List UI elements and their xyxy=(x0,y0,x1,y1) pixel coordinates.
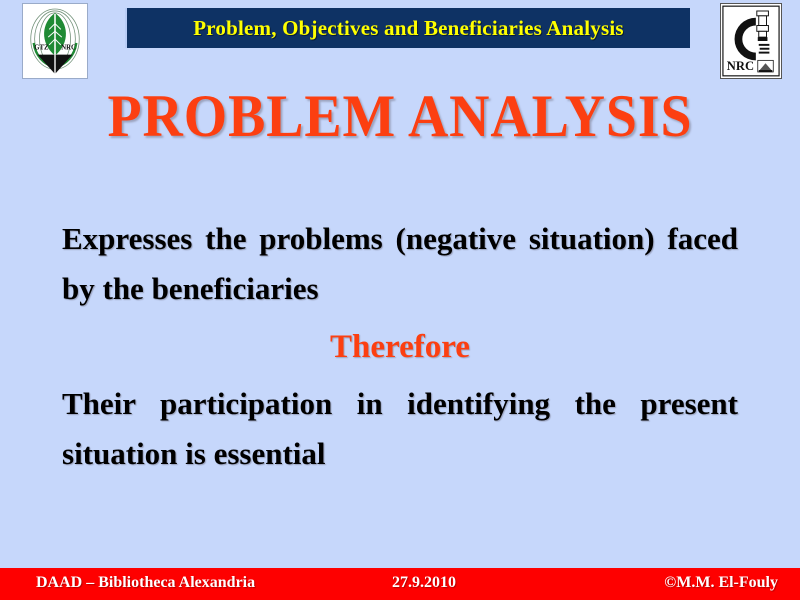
footer-copyright-label: ©M.M. El-Fouly xyxy=(664,574,778,592)
nrc-logo: NRC xyxy=(720,3,782,79)
footer-bar: DAAD – Bibliotheca Alexandria 27.9.2010 … xyxy=(0,568,800,600)
footer-event-label: DAAD – Bibliotheca Alexandria xyxy=(36,574,255,592)
logo-text-gtz: GTZ xyxy=(34,45,49,52)
header-banner: Problem, Objectives and Beneficiaries An… xyxy=(125,8,690,48)
body-connector-therefore: Therefore xyxy=(62,324,738,370)
header-banner-title: Problem, Objectives and Beneficiaries An… xyxy=(193,16,624,41)
footer-date-label: 27.9.2010 xyxy=(392,574,456,592)
slide-body: Expresses the problems (negative situati… xyxy=(62,214,738,479)
presentation-slide: GTZ NRC Problem, Objectives and Benefici… xyxy=(0,0,800,600)
logo-text-nrc-bottom: NRC xyxy=(727,59,754,73)
gtz-nrc-logo: GTZ NRC xyxy=(22,3,88,79)
slide-title: PROBLEM ANALYSIS xyxy=(28,86,772,146)
body-paragraph-2: Their participation in identifying the p… xyxy=(62,379,738,479)
body-paragraph-1: Expresses the problems (negative situati… xyxy=(62,214,738,314)
logo-text-nrc: NRC xyxy=(61,45,76,52)
